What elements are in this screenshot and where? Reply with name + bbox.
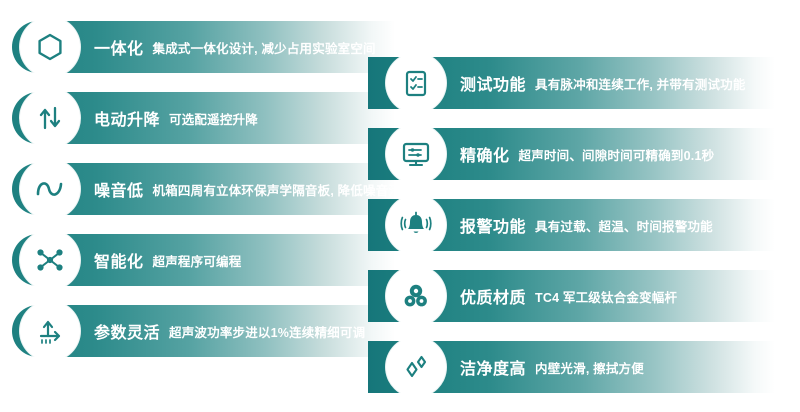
- feature-row[interactable]: 优质材质 TC4 军工级钛合金变幅杆: [368, 270, 775, 322]
- up-down-arrows-icon: [20, 88, 80, 148]
- feature-desc: 具有脉冲和连续工作, 并带有测试功能: [535, 74, 746, 93]
- feature-labels: 报警功能 具有过载、超温、时间报警功能: [460, 199, 713, 251]
- feature-row[interactable]: 测试功能 具有脉冲和连续工作, 并带有测试功能: [368, 57, 775, 109]
- feature-desc: 具有过载、超温、时间报警功能: [535, 216, 713, 235]
- feature-title: 一体化: [94, 35, 144, 59]
- feature-title: 洁净度高: [460, 355, 526, 379]
- power-adjust-arrow-icon: [20, 301, 80, 361]
- feature-title: 优质材质: [460, 284, 526, 308]
- feature-desc: 机箱四周有立体环保声学隔音板, 降低噪音污染: [153, 180, 414, 199]
- feature-title: 噪音低: [94, 177, 144, 201]
- material-spheres-icon: [386, 266, 446, 326]
- feature-labels: 一体化 集成式一体化设计, 减少占用实验室空间: [94, 21, 376, 73]
- feature-labels: 优质材质 TC4 军工级钛合金变幅杆: [460, 270, 677, 322]
- feature-row[interactable]: 智能化 超声程序可编程: [12, 234, 395, 286]
- feature-title: 报警功能: [460, 213, 526, 237]
- feature-desc: 集成式一体化设计, 减少占用实验室空间: [153, 38, 376, 57]
- hexagon-icon: [20, 17, 80, 77]
- feature-row[interactable]: 一体化 集成式一体化设计, 减少占用实验室空间: [12, 21, 395, 73]
- feature-title: 精确化: [460, 142, 510, 166]
- feature-row[interactable]: 精确化 超声时间、间隙时间可精确到0.1秒: [368, 128, 775, 180]
- feature-row[interactable]: 参数灵活 超声波功率步进以1%连续精细可调: [12, 305, 395, 357]
- network-nodes-icon: [20, 230, 80, 290]
- feature-desc: 可选配遥控升降: [169, 109, 258, 128]
- feature-labels: 洁净度高 内壁光滑, 擦拭方便: [460, 341, 644, 393]
- feature-row[interactable]: 洁净度高 内壁光滑, 擦拭方便: [368, 341, 775, 393]
- features-infographic: 一体化 集成式一体化设计, 减少占用实验室空间 电动升降 可选配遥控升降 噪音低…: [0, 0, 800, 412]
- clipboard-checklist-icon: [386, 53, 446, 113]
- feature-labels: 智能化 超声程序可编程: [94, 234, 241, 286]
- feature-labels: 电动升降 可选配遥控升降: [94, 92, 258, 144]
- feature-labels: 精确化 超声时间、间隙时间可精确到0.1秒: [460, 128, 714, 180]
- feature-title: 测试功能: [460, 71, 526, 95]
- feature-labels: 参数灵活 超声波功率步进以1%连续精细可调: [94, 305, 365, 357]
- feature-desc: 内壁光滑, 擦拭方便: [535, 358, 644, 377]
- feature-desc: TC4 军工级钛合金变幅杆: [535, 287, 677, 306]
- sparkle-clean-icon: [386, 337, 446, 397]
- feature-desc: 超声时间、间隙时间可精确到0.1秒: [519, 145, 715, 164]
- feature-row[interactable]: 报警功能 具有过载、超温、时间报警功能: [368, 199, 775, 251]
- feature-desc: 超声波功率步进以1%连续精细可调: [169, 322, 365, 341]
- feature-title: 智能化: [94, 248, 144, 272]
- feature-row[interactable]: 电动升降 可选配遥控升降: [12, 92, 395, 144]
- feature-title: 参数灵活: [94, 319, 160, 343]
- feature-row[interactable]: 噪音低 机箱四周有立体环保声学隔音板, 降低噪音污染: [12, 163, 395, 215]
- feature-labels: 测试功能 具有脉冲和连续工作, 并带有测试功能: [460, 57, 746, 109]
- sine-wave-icon: [20, 159, 80, 219]
- feature-title: 电动升降: [94, 106, 160, 130]
- feature-desc: 超声程序可编程: [153, 251, 242, 270]
- feature-labels: 噪音低 机箱四周有立体环保声学隔音板, 降低噪音污染: [94, 163, 414, 215]
